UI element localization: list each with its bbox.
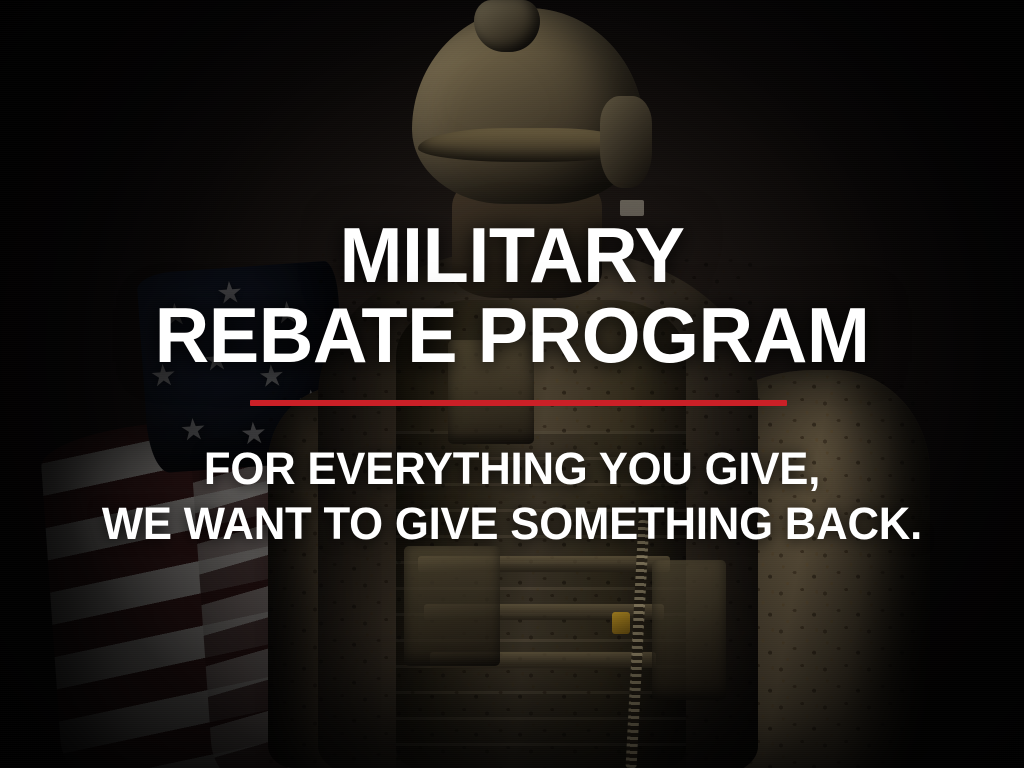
soldier-figure bbox=[0, 0, 1024, 768]
helmet-headset bbox=[600, 96, 652, 188]
helmet-patch bbox=[620, 200, 644, 216]
vest-pouch bbox=[448, 340, 534, 444]
military-rebate-banner: MILITARY REBATE PROGRAM FOR EVERYTHING Y… bbox=[0, 0, 1024, 768]
vest-pouch bbox=[404, 546, 500, 666]
vest-pull-tab bbox=[612, 612, 630, 634]
vest-pouch bbox=[652, 560, 726, 700]
background-photo bbox=[0, 0, 1024, 768]
